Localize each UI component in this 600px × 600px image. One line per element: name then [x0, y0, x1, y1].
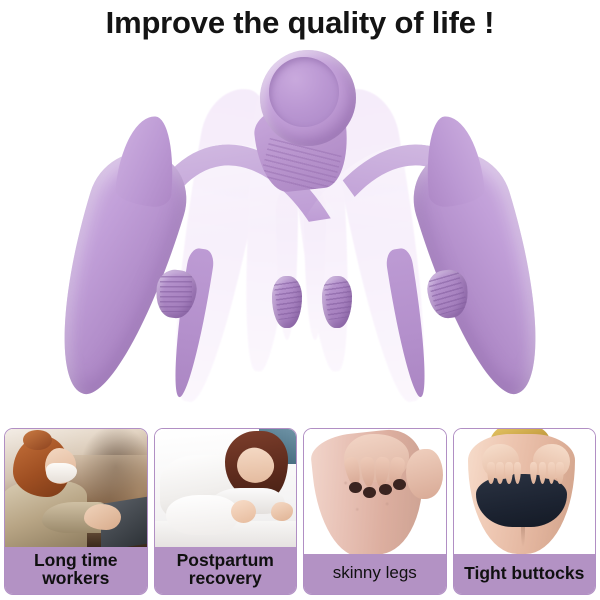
caption-postpartum-recovery: Postpartum recovery	[155, 547, 297, 594]
page-title-bar: Improve the quality of life !	[0, 0, 600, 46]
use-case-card-skinny-legs[interactable]: skinny legs	[303, 428, 447, 595]
worker-hand	[84, 504, 121, 530]
caption-line: Postpartum	[157, 551, 295, 570]
finger	[530, 462, 537, 485]
finger	[496, 462, 503, 485]
photo-office-worker-at-laptop	[5, 429, 147, 547]
left-hand-fingers	[487, 462, 521, 485]
caption-skinny-legs: skinny legs	[304, 554, 446, 594]
finger	[548, 462, 555, 485]
caption-line: Long time	[7, 551, 145, 570]
product-image	[0, 38, 600, 420]
finger	[487, 462, 494, 485]
photo-hands-pinching-thigh	[304, 429, 446, 554]
caption-tight-buttocks: Tight buttocks	[454, 554, 596, 594]
worker-hair-bun	[23, 430, 51, 450]
fingernail	[363, 487, 376, 498]
caption-line: skinny legs	[306, 564, 444, 582]
photo-buttocks-rear-view	[454, 429, 596, 554]
finger	[360, 456, 376, 487]
hub-inner-disc	[269, 57, 339, 127]
right-hand-fingers	[530, 462, 564, 485]
right-claw-tip	[422, 114, 486, 209]
fingernail	[393, 479, 406, 490]
product-hero	[0, 38, 600, 420]
caption-long-time-workers: Long time workers	[5, 547, 147, 594]
finger	[539, 462, 546, 485]
use-case-card-long-time-workers[interactable]: Long time workers	[4, 428, 148, 595]
finger	[505, 462, 512, 485]
baby-face	[231, 500, 256, 524]
fingernail	[349, 482, 362, 493]
use-case-card-strip: Long time workers Postpartum recovery	[0, 425, 600, 600]
finger	[556, 462, 563, 485]
finger	[374, 456, 390, 487]
use-case-card-postpartum-recovery[interactable]: Postpartum recovery	[154, 428, 298, 595]
fingernail	[379, 484, 392, 495]
hub-knob	[260, 50, 356, 146]
caption-line: recovery	[157, 569, 295, 588]
pinching-hand-lower	[406, 449, 443, 499]
baby-body	[166, 495, 240, 535]
photo-mother-with-newborn	[155, 429, 297, 547]
caption-line: Tight buttocks	[456, 564, 594, 583]
use-case-card-tight-buttocks[interactable]: Tight buttocks	[453, 428, 597, 595]
left-claw-tip	[114, 114, 178, 209]
caption-line: workers	[7, 569, 145, 588]
product-device	[60, 48, 540, 413]
finger	[514, 462, 521, 485]
mother-hand	[271, 502, 294, 521]
page-title: Improve the quality of life !	[106, 5, 495, 41]
